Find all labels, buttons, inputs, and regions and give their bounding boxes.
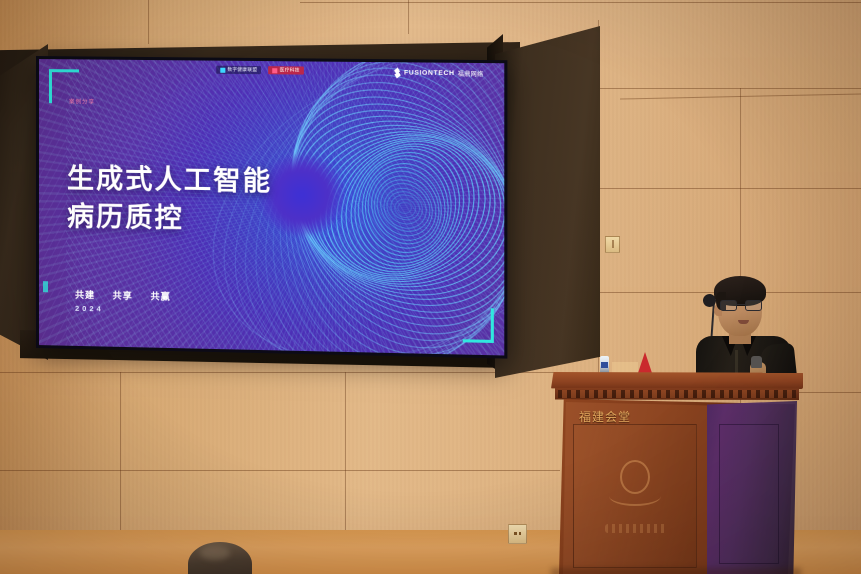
edge-accent-mark <box>43 281 48 292</box>
podium-floor-shadow <box>551 568 801 574</box>
subtitle-item-0: 共建 <box>75 290 95 300</box>
glasses-bridge <box>737 304 745 305</box>
glasses-lens-right <box>745 300 762 311</box>
partner-logo-row: 数字健康联盟 医疗科技 <box>216 66 304 75</box>
subtitle-item-1: 共享 <box>113 291 133 301</box>
wall-seam <box>600 88 861 89</box>
light-switch[interactable] <box>605 236 620 253</box>
led-screen[interactable]: 案例分享 数字健康联盟 医疗科技 FUSIONTECH 福鼎网络 生成式人工智能… <box>36 56 507 359</box>
water-bottle <box>600 356 609 373</box>
auditorium-photo: 案例分享 数字健康联盟 医疗科技 FUSIONTECH 福鼎网络 生成式人工智能… <box>0 0 861 574</box>
partner-logo-2-label: 医疗科技 <box>280 67 300 73</box>
corner-bracket-bottom-right <box>463 308 494 343</box>
slide-title: 生成式人工智能 病历质控 <box>67 159 272 239</box>
slide-canvas: 案例分享 数字健康联盟 医疗科技 FUSIONTECH 福鼎网络 生成式人工智能… <box>39 59 504 355</box>
subtitle-item-2: 共赢 <box>150 291 170 301</box>
slide-title-line1: 生成式人工智能 <box>67 159 272 201</box>
fusiontech-logo: FUSIONTECH 福鼎网络 <box>394 67 484 79</box>
partner-logo-1-label: 数字健康联盟 <box>227 67 257 73</box>
crest-emblem-icon <box>609 460 661 508</box>
wall-seam <box>0 372 560 373</box>
glasses-lens-left <box>720 300 737 311</box>
podium: 福建会堂 <box>551 372 803 574</box>
presenter <box>688 274 800 384</box>
power-outlet[interactable] <box>508 524 527 544</box>
logo-square-icon <box>273 68 278 73</box>
flame-icon <box>394 67 401 78</box>
slide-year: 2024 <box>75 304 104 314</box>
wall-seam <box>345 372 346 532</box>
slide-corner-tag: 案例分享 <box>69 97 95 105</box>
wall-seam <box>408 0 409 34</box>
polo-placket <box>735 350 738 374</box>
partner-logo-2: 医疗科技 <box>269 66 304 74</box>
slide-subtitle: 共建 共享 共赢 <box>75 288 185 303</box>
slide-title-line2: 病历质控 <box>67 198 272 240</box>
glasses-icon <box>720 300 762 311</box>
brand-latin-label: FUSIONTECH <box>404 69 455 77</box>
wall-seam <box>0 470 560 471</box>
brand-chinese-label: 福鼎网络 <box>458 69 484 78</box>
acoustic-panel-right <box>495 26 600 378</box>
wall-seam <box>600 188 861 189</box>
emblem-wing <box>609 486 661 506</box>
podium-name-plate: 福建会堂 <box>579 408 699 425</box>
microphone-head <box>751 356 762 368</box>
podium-top-surface <box>551 372 803 389</box>
emblem-wave-ornament <box>605 524 667 533</box>
podium-dentil-moulding <box>555 388 799 400</box>
wall-seam <box>120 372 121 532</box>
podium-side-inset <box>719 424 779 564</box>
wall-seam <box>300 2 861 3</box>
wall-seam <box>148 0 149 44</box>
partner-logo-1: 数字健康联盟 <box>216 66 261 75</box>
logo-square-icon <box>220 67 225 72</box>
